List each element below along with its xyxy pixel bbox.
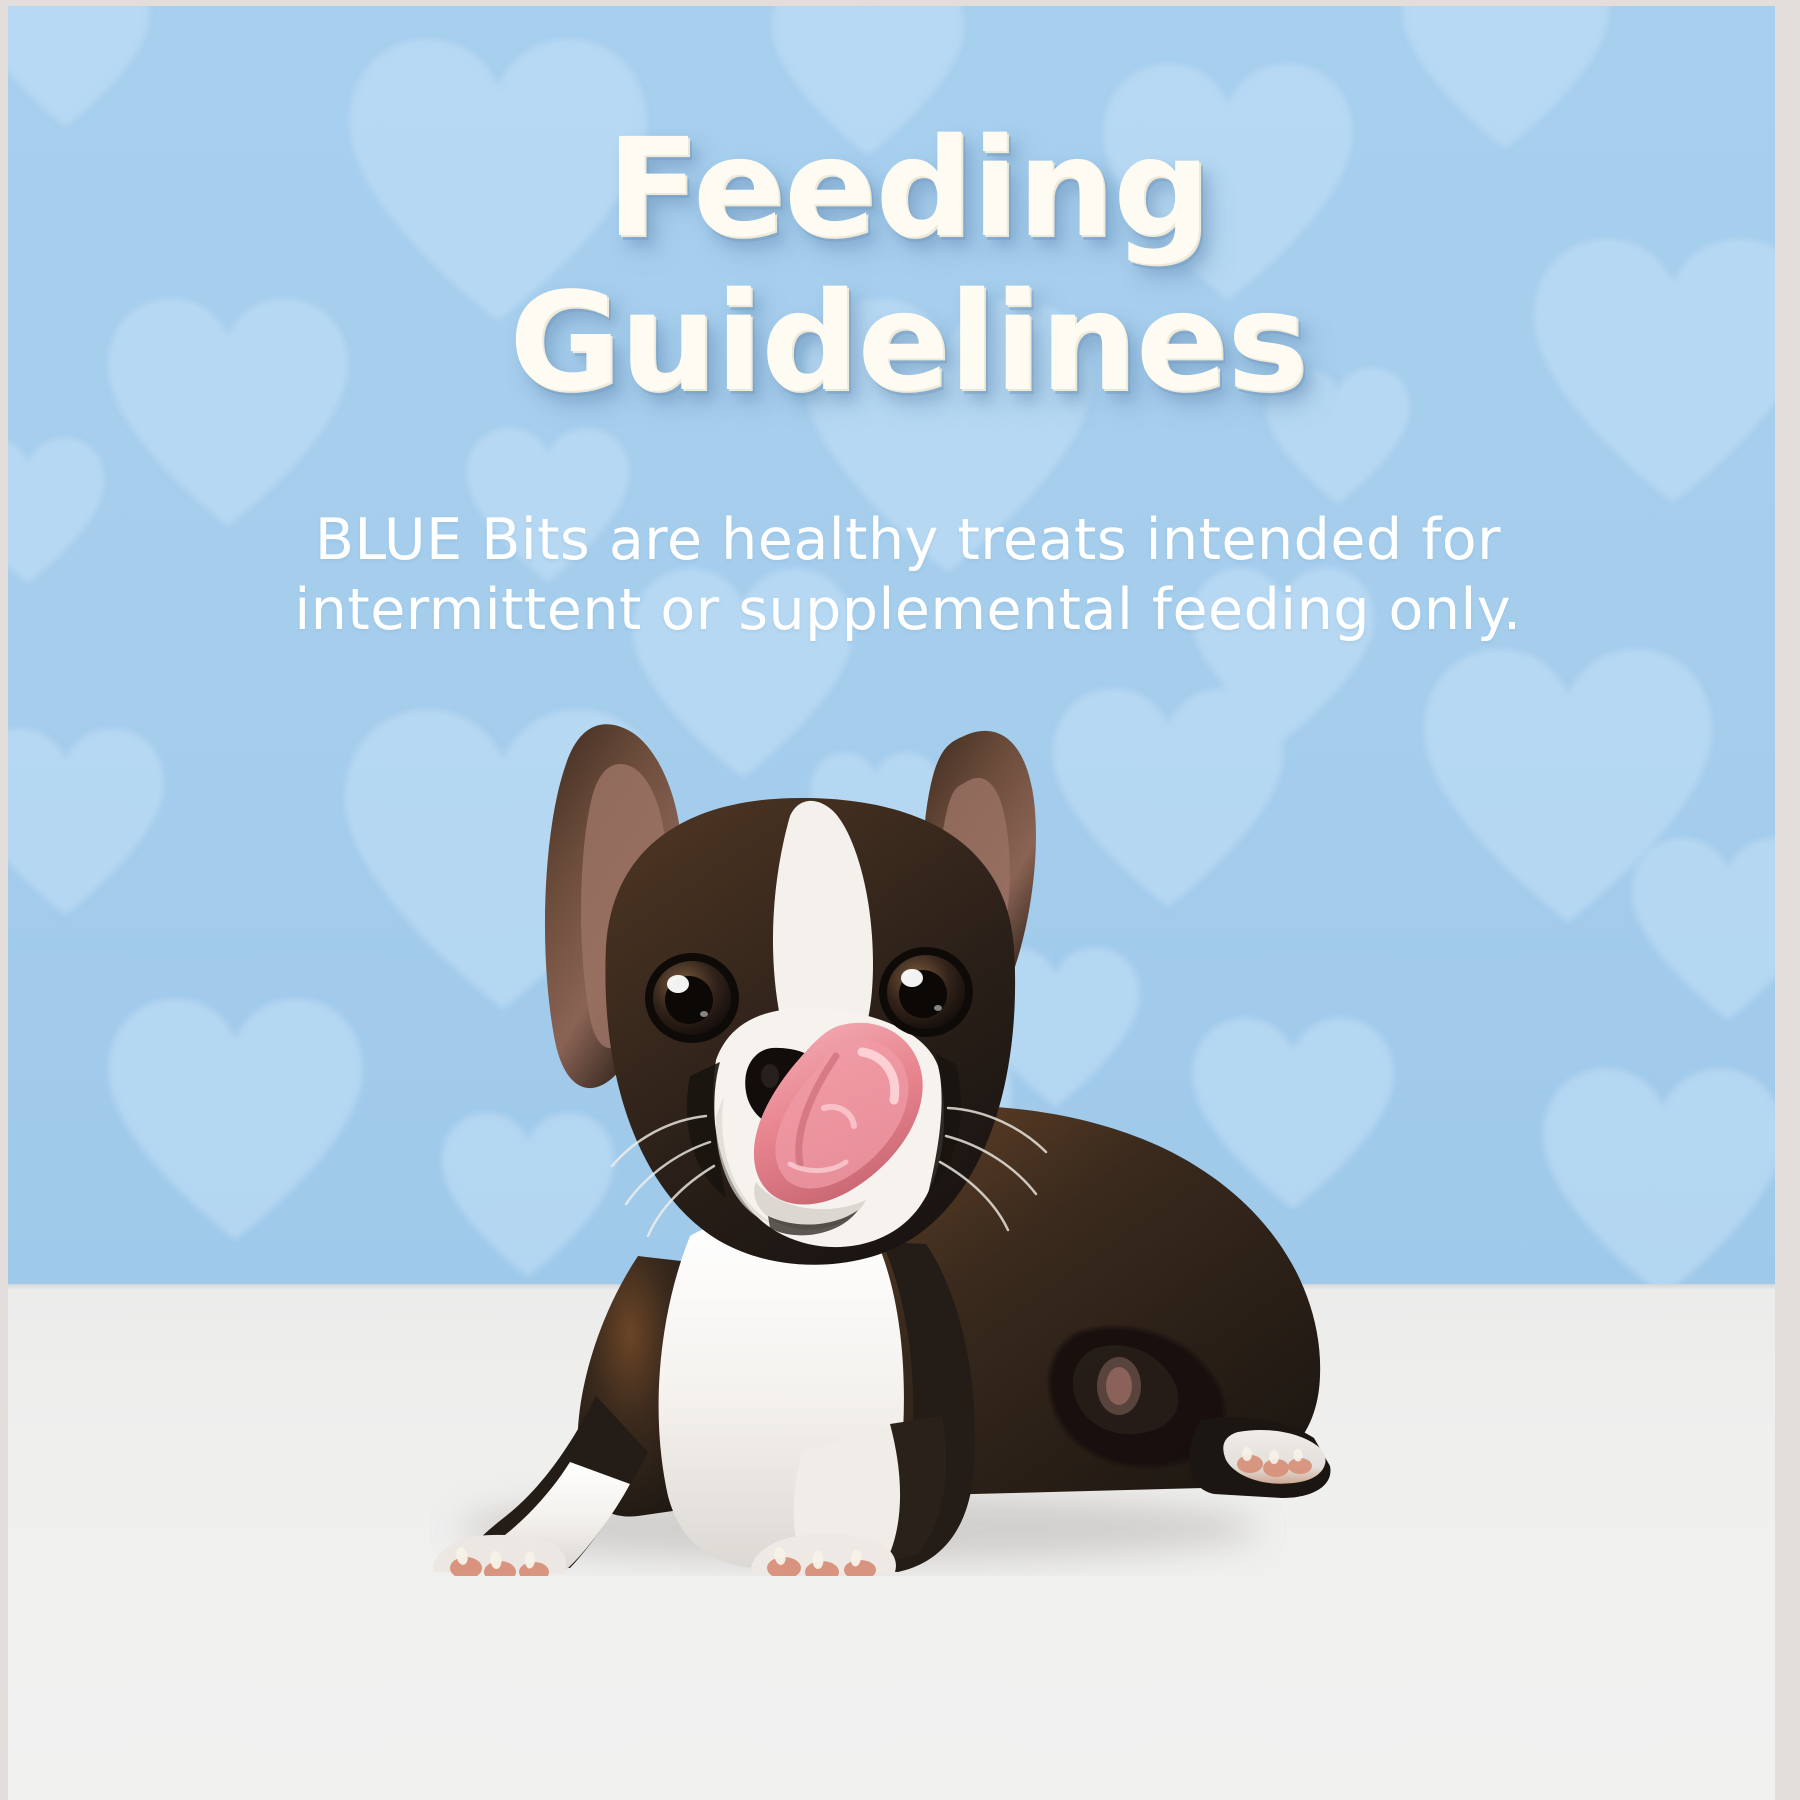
- packaging-panel: Feeding Guidelines BLUE Bits are healthy…: [0, 0, 1800, 1800]
- dog-photo: [338, 696, 1348, 1576]
- scene: Feeding Guidelines BLUE Bits are healthy…: [8, 6, 1775, 1800]
